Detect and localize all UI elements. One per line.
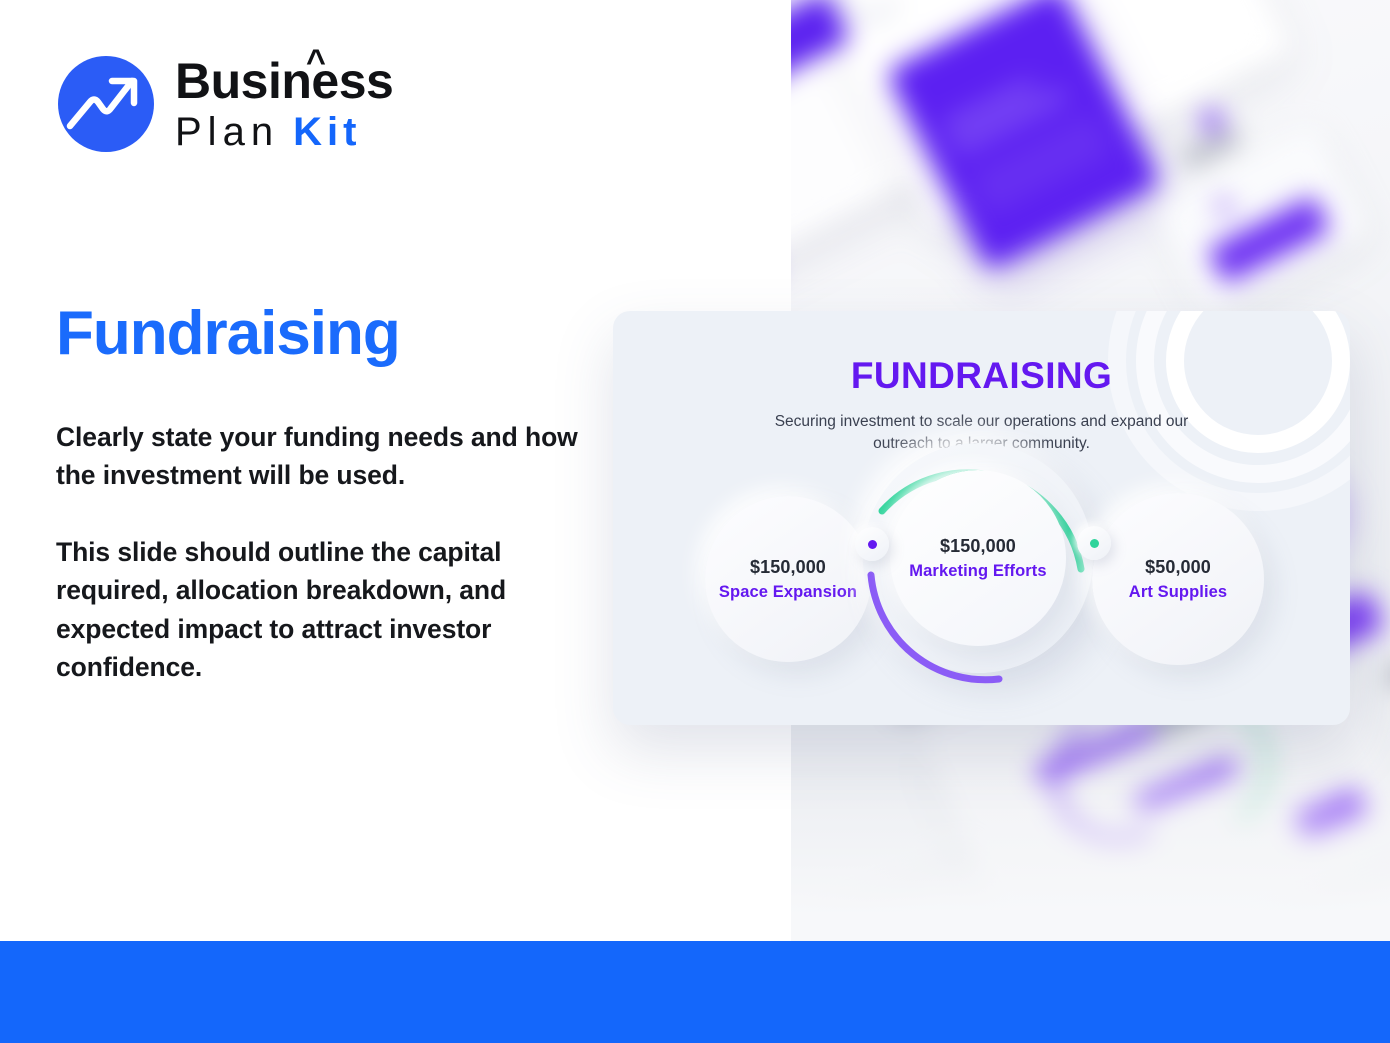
brand-wordmark: Business ^ PlanKit — [175, 56, 393, 152]
bubble-art-supplies[interactable]: $50,000 Art Supplies — [1092, 493, 1264, 665]
brand-logo: Business ^ PlanKit — [56, 54, 393, 154]
bubble-center-amount: $150,000 — [940, 536, 1016, 557]
fundraising-bubble-diagram: $150,000 Space Expansion $150,000 Market… — [613, 461, 1350, 711]
brand-name-kit: Kit — [293, 110, 361, 154]
circumflex-accent: ^ — [306, 45, 325, 79]
node-purple-dot — [868, 540, 877, 549]
body-copy: Clearly state your funding needs and how… — [56, 418, 601, 686]
bubble-left-content: $150,000 Space Expansion — [705, 496, 871, 662]
preview-title: FUNDRAISING — [613, 355, 1350, 397]
brand-name-bottom: PlanKit — [175, 112, 393, 152]
bubble-marketing-efforts[interactable]: $150,000 Marketing Efforts — [890, 470, 1066, 646]
node-purple-connector — [855, 527, 889, 561]
bubble-left-category: Space Expansion — [719, 583, 857, 602]
brand-name-top-text: Business — [175, 53, 393, 109]
node-green-dot — [1090, 539, 1099, 548]
bubble-space-expansion[interactable]: $150,000 Space Expansion — [705, 496, 871, 662]
bubble-left-amount: $150,000 — [750, 557, 826, 578]
brand-name-plan: Plan — [175, 110, 279, 154]
photo-fade-overlay — [791, 771, 1390, 941]
node-green-connector — [1077, 526, 1111, 560]
mock-dot-purple-a — [1201, 110, 1223, 132]
body-paragraph-1: Clearly state your funding needs and how… — [56, 418, 601, 494]
brand-name-top: Business ^ — [175, 56, 393, 106]
bubble-right-amount: $50,000 — [1145, 557, 1211, 578]
slide-preview-card[interactable]: FUNDRAISING Securing investment to scale… — [613, 311, 1350, 725]
footer-bar — [0, 941, 1390, 1043]
growth-arrow-circle-icon — [56, 54, 156, 154]
bubble-center-content: $150,000 Marketing Efforts — [890, 470, 1066, 646]
bubble-center-category: Marketing Efforts — [909, 562, 1046, 581]
mock-dot-purple-b — [1216, 198, 1232, 214]
mock-text-bar-e — [1386, 631, 1390, 690]
mock-text-bar-b — [1181, 127, 1242, 168]
bubble-right-category: Art Supplies — [1129, 583, 1227, 602]
body-paragraph-2: This slide should outline the capital re… — [56, 533, 601, 686]
slide-root: Business ^ PlanKit Fundraising Clearly s… — [0, 0, 1390, 1043]
page-title: Fundraising — [56, 298, 400, 369]
bubble-right-content: $50,000 Art Supplies — [1092, 493, 1264, 665]
